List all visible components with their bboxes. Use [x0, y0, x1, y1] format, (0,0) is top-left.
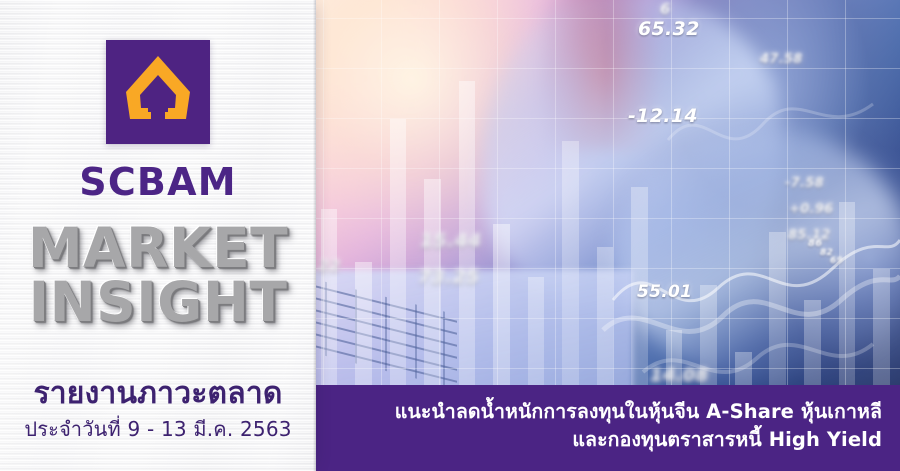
chart-value-label: 69: [830, 256, 843, 266]
chart-value-label: 15.44: [420, 230, 482, 252]
chart-value-label: -12.14: [628, 105, 698, 127]
left-title-panel: SCBAM MARKET INSIGHT รายงานภาวะตลาด ประจ…: [0, 0, 316, 471]
chart-value-label: 73.25: [418, 266, 480, 288]
thai-report-title: รายงานภาวะตลาด: [0, 370, 316, 417]
market-insight-line-1: MARKET: [0, 222, 316, 276]
headline-line-1: แนะนำลดน้ำหนักการลงทุนในหุ้นจีน A-Share …: [395, 398, 882, 426]
chart-value-label: 14.08: [650, 365, 708, 386]
chart-value-label: 65.32: [638, 18, 700, 40]
brand-name: SCBAM: [0, 160, 316, 204]
market-insight-line-2: INSIGHT: [0, 276, 316, 330]
chart-value-label: -7.58: [785, 176, 824, 191]
thai-report-date: ประจำวันที่ 9 - 13 มี.ค. 2563: [0, 413, 316, 445]
chart-value-label: +0.96: [789, 202, 833, 217]
chart-value-label: 6: [660, 0, 671, 18]
scb-leaf-logo-icon: [106, 40, 210, 144]
market-insight-title: MARKET INSIGHT: [0, 222, 316, 330]
headline-bar: แนะนำลดน้ำหนักการลงทุนในหุ้นจีน A-Share …: [313, 385, 900, 471]
chart-value-label: 47.58: [760, 52, 803, 67]
chart-value-label: 22: [318, 256, 341, 275]
chart-value-label: 55.01: [637, 282, 692, 302]
headline-line-2: และกองทุนตราสารหนี้ High Yield: [572, 426, 882, 454]
market-insight-banner: 65.32-12.1447.5815.4473.2555.01-7.58+0.9…: [0, 0, 900, 471]
